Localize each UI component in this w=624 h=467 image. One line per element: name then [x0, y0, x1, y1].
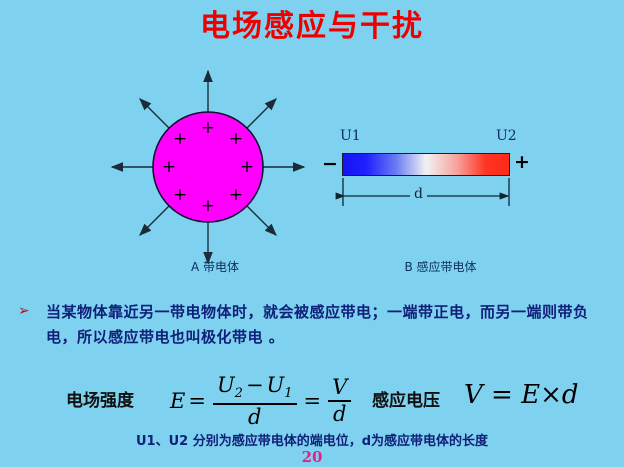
charge-plus: +: [201, 196, 215, 216]
figure-induced-body: U1 U2 − + d: [318, 128, 538, 223]
symbol-U2: U: [217, 373, 235, 397]
dimension-label-d: d: [410, 186, 427, 202]
formula-row: 电场强度 E = U2−U1 d = V d 感应电压 V = E×d: [0, 372, 624, 420]
bottom-caption: U1、U2 分别为感应带电体的端电位，d为感应带电体的长度: [0, 430, 624, 449]
page-title: 电场感应与干扰: [0, 8, 624, 46]
page-number: 20: [0, 448, 624, 466]
induced-voltage-equation: V = E×d: [464, 380, 579, 410]
fraction-numerator: U2−U1: [213, 374, 297, 402]
symbol-U1: U: [267, 373, 285, 397]
equals-sign-2: =: [304, 389, 322, 413]
body-paragraph: ➢ 当某物体靠近另一带电物体时，就会被感应带电；一端带正电，而另一端则带负电，所…: [14, 300, 614, 350]
field-strength-equation: E = U2−U1 d = V d: [170, 374, 355, 429]
charge-plus: +: [173, 185, 187, 205]
fraction-v-over-d: V d: [328, 376, 351, 426]
dimension-line-svg: [318, 128, 538, 223]
chevron-right-icon: ➢: [14, 300, 46, 323]
fraction-u2-minus-u1-over-d: U2−U1 d: [213, 374, 297, 429]
equals-sign: =: [188, 389, 206, 413]
fraction-denominator-2: d: [329, 403, 350, 426]
figure-a-label: A 带电体: [150, 258, 280, 275]
charge-plus: +: [229, 129, 243, 149]
figure-b-label: B 感应带电体: [368, 258, 513, 275]
equation-symbol-E: E: [170, 389, 185, 413]
charge-plus: +: [173, 129, 187, 149]
charged-body-svg: + + + + + + + +: [103, 62, 315, 274]
charge-plus: +: [201, 118, 215, 138]
body-paragraph-text: 当某物体靠近另一带电物体时，就会被感应带电；一端带正电，而另一端则带负电，所以感…: [46, 300, 614, 350]
induced-voltage-caption: 感应电压: [372, 386, 440, 411]
slide-canvas: 电场感应与干扰 + + +: [0, 0, 624, 467]
charge-plus: +: [240, 157, 254, 177]
field-strength-caption: 电场强度: [66, 386, 134, 411]
subscript-1: 1: [284, 386, 292, 401]
fraction-numerator-2: V: [328, 376, 351, 399]
charge-plus: +: [162, 157, 176, 177]
minus-operator: −: [246, 373, 264, 397]
subscript-2: 2: [235, 386, 243, 401]
fraction-denominator: d: [244, 406, 265, 429]
figure-charged-body: + + + + + + + +: [103, 62, 315, 274]
charge-plus: +: [229, 185, 243, 205]
